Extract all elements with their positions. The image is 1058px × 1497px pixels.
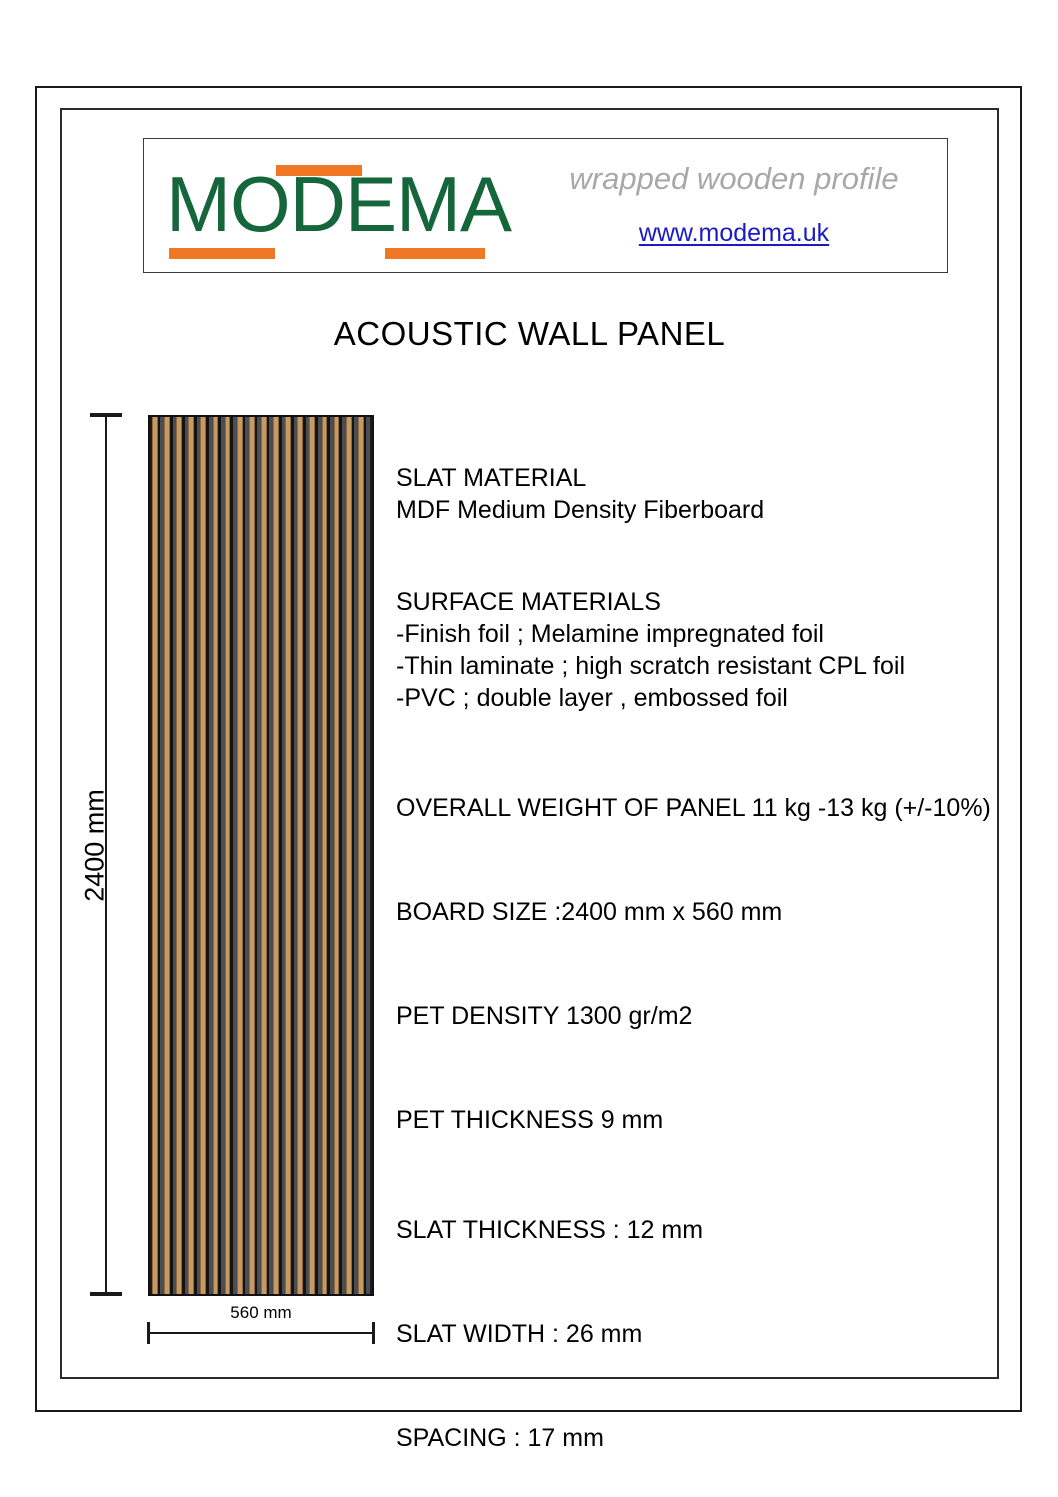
spec-pet-density: PET DENSITY 1300 gr/m2: [396, 1000, 996, 1032]
slat-column: [188, 417, 200, 1294]
slat-column: [309, 417, 321, 1294]
company-website-link[interactable]: www.modema.uk: [534, 219, 934, 248]
title-block: MODEMA wrapped wooden profile www.modema…: [143, 138, 948, 273]
slat-column: [237, 417, 249, 1294]
spec-board-size: BOARD SIZE :2400 mm x 560 mm: [396, 896, 996, 928]
acoustic-panel-drawing: [148, 415, 374, 1296]
slat-column: [297, 417, 309, 1294]
logo-accent-bar-right: [385, 248, 485, 259]
spec-slat-material-heading: SLAT MATERIAL: [396, 462, 996, 494]
slat-column: [261, 417, 273, 1294]
spec-surface-materials-heading: SURFACE MATERIALS: [396, 586, 996, 618]
width-dimension-line: [148, 1332, 374, 1334]
page-title: ACOUSTIC WALL PANEL: [60, 315, 999, 353]
spec-pet-thickness: PET THICKNESS 9 mm: [396, 1104, 996, 1136]
spec-slat-material: SLAT MATERIAL MDF Medium Density Fiberbo…: [396, 462, 996, 526]
height-dimension-tick-top: [90, 413, 122, 417]
spec-surface-materials: SURFACE MATERIALS -Finish foil ; Melamin…: [396, 586, 996, 714]
logo-accent-bar-left: [169, 248, 275, 259]
spec-surface-material-2: -Thin laminate ; high scratch resistant …: [396, 650, 996, 682]
spec-sheet-page: MODEMA wrapped wooden profile www.modema…: [0, 0, 1058, 1497]
slat-column: [213, 417, 225, 1294]
width-dimension-label: 560 mm: [148, 1303, 374, 1323]
slat-column: [285, 417, 297, 1294]
spec-slat-material-value: MDF Medium Density Fiberboard: [396, 494, 996, 526]
logo-accent-bar-top: [276, 165, 362, 176]
spacer: [396, 1246, 996, 1318]
slat-column: [225, 417, 237, 1294]
spacer: [396, 928, 996, 1000]
brand-name-text: MODEMA: [166, 165, 511, 243]
spacer: [396, 714, 996, 792]
slat-column: [176, 417, 188, 1294]
spacer: [396, 824, 996, 896]
gap-shadow-band: [366, 417, 370, 1294]
slat-column: [358, 417, 370, 1294]
spec-surface-material-3: -PVC ; double layer , embossed foil: [396, 682, 996, 714]
slat-column: [249, 417, 261, 1294]
spec-overall-weight: OVERALL WEIGHT OF PANEL 11 kg -13 kg (+/…: [396, 792, 996, 824]
panel-slat-gap: [364, 417, 370, 1294]
height-dimension-label: 2400 mm: [80, 736, 111, 956]
spacer: [396, 1032, 996, 1104]
slat-column: [273, 417, 285, 1294]
width-dimension-tick-right: [372, 1322, 375, 1344]
slat-column: [322, 417, 334, 1294]
spec-slat-thickness: SLAT THICKNESS : 12 mm: [396, 1214, 996, 1246]
slat-column: [334, 417, 346, 1294]
width-dimension-tick-left: [147, 1322, 150, 1344]
spec-slat-width: SLAT WIDTH : 26 mm: [396, 1318, 996, 1350]
slat-column: [346, 417, 358, 1294]
spacer: [396, 1136, 996, 1214]
slat-column: [164, 417, 176, 1294]
company-tagline: wrapped wooden profile: [534, 161, 934, 197]
spec-spacing: SPACING : 17 mm: [396, 1422, 996, 1454]
slat-column: [152, 417, 164, 1294]
spacer: [396, 1350, 996, 1422]
spacer: [396, 526, 996, 586]
company-logo: MODEMA: [166, 151, 506, 256]
slat-column: [200, 417, 212, 1294]
spec-surface-material-1: -Finish foil ; Melamine impregnated foil: [396, 618, 996, 650]
height-dimension-tick-bottom: [90, 1292, 122, 1296]
specifications-list: SLAT MATERIAL MDF Medium Density Fiberbo…: [396, 462, 996, 1454]
